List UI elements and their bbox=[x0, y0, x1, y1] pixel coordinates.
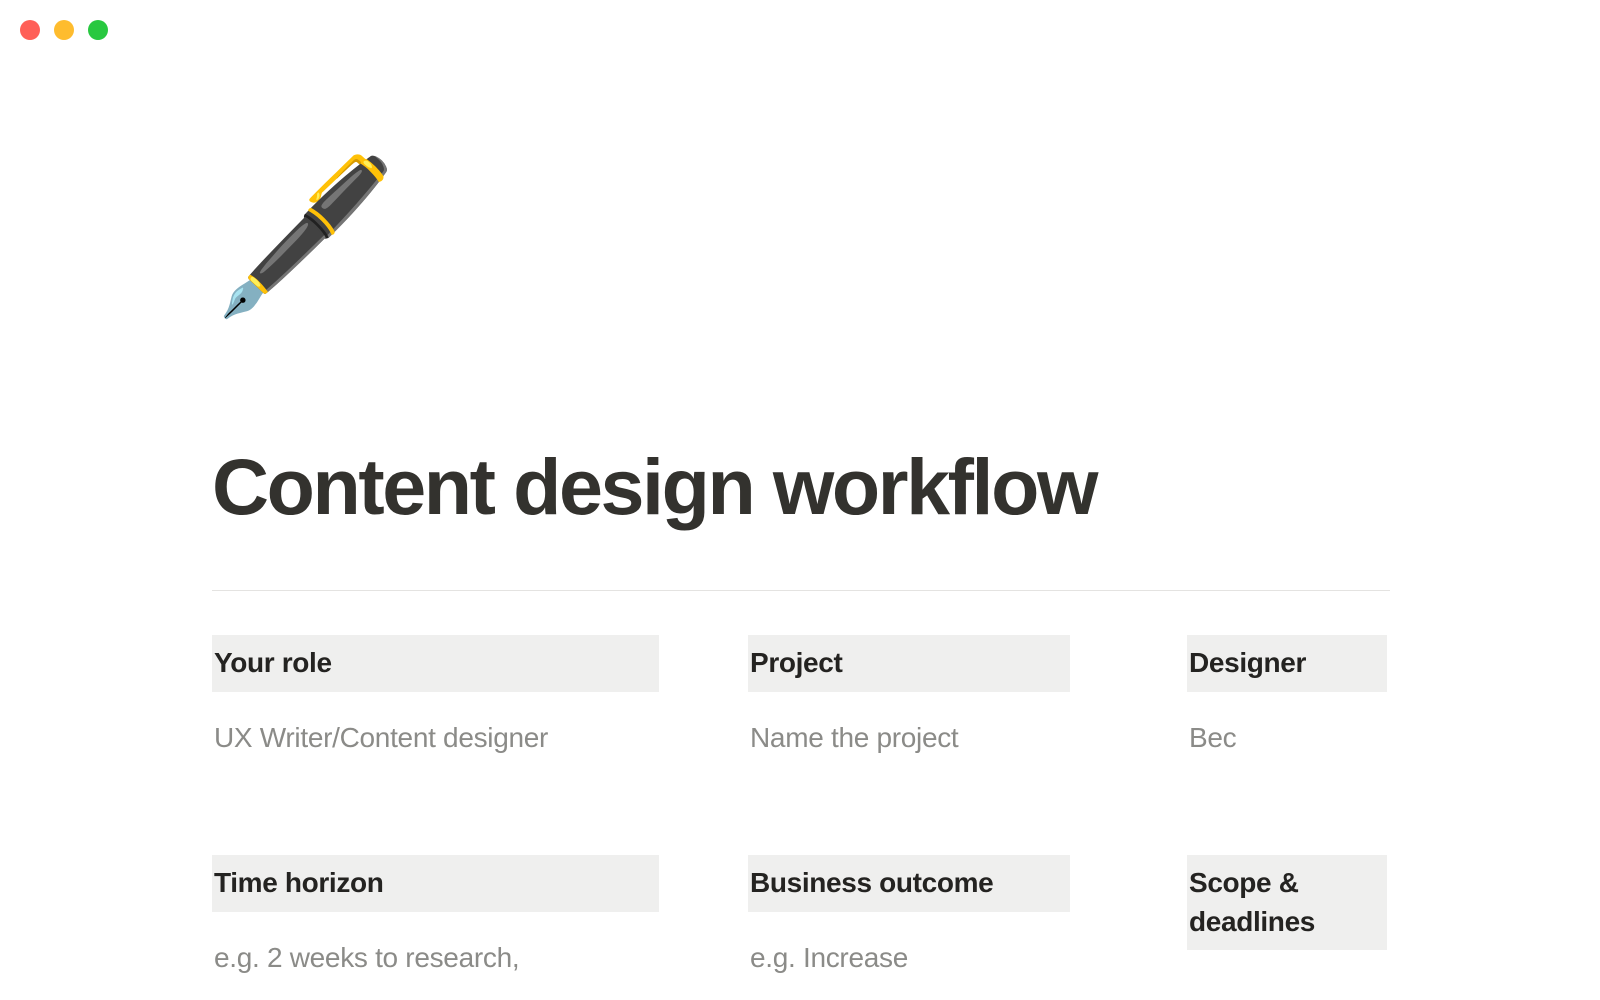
property-label-business-outcome[interactable]: Business outcome bbox=[748, 855, 1070, 912]
property-label-your-role[interactable]: Your role bbox=[212, 635, 659, 692]
maximize-window-button[interactable] bbox=[88, 20, 108, 40]
close-window-button[interactable] bbox=[20, 20, 40, 40]
window-titlebar bbox=[0, 0, 1600, 62]
property-label-scope-deadlines[interactable]: Scope & deadlines bbox=[1187, 855, 1387, 950]
property-label-time-horizon[interactable]: Time horizon bbox=[212, 855, 659, 912]
property-cell-time-horizon: Time horizon e.g. 2 weeks to research, bbox=[212, 855, 659, 977]
fountain-pen-icon[interactable]: 🖋️ bbox=[212, 162, 399, 312]
property-value-business-outcome[interactable]: e.g. Increase bbox=[748, 912, 1070, 977]
page-title[interactable]: Content design workflow bbox=[212, 444, 1392, 529]
traffic-light-group bbox=[20, 20, 108, 40]
property-label-designer[interactable]: Designer bbox=[1187, 635, 1387, 692]
property-value-designer[interactable]: Bec bbox=[1187, 692, 1387, 757]
property-cell-business-outcome: Business outcome e.g. Increase bbox=[748, 855, 1070, 977]
title-divider bbox=[212, 590, 1390, 591]
property-value-project[interactable]: Name the project bbox=[748, 692, 1070, 757]
minimize-window-button[interactable] bbox=[54, 20, 74, 40]
property-cell-your-role: Your role UX Writer/Content designer bbox=[212, 635, 659, 757]
property-label-project[interactable]: Project bbox=[748, 635, 1070, 692]
app-window: 🖋️ Content design workflow Your role UX … bbox=[0, 0, 1600, 1000]
property-cell-designer: Designer Bec bbox=[1187, 635, 1387, 757]
property-cell-scope-deadlines: Scope & deadlines bbox=[1187, 855, 1387, 950]
property-cell-project: Project Name the project bbox=[748, 635, 1070, 757]
property-value-time-horizon[interactable]: e.g. 2 weeks to research, bbox=[212, 912, 659, 977]
property-value-your-role[interactable]: UX Writer/Content designer bbox=[212, 692, 659, 757]
